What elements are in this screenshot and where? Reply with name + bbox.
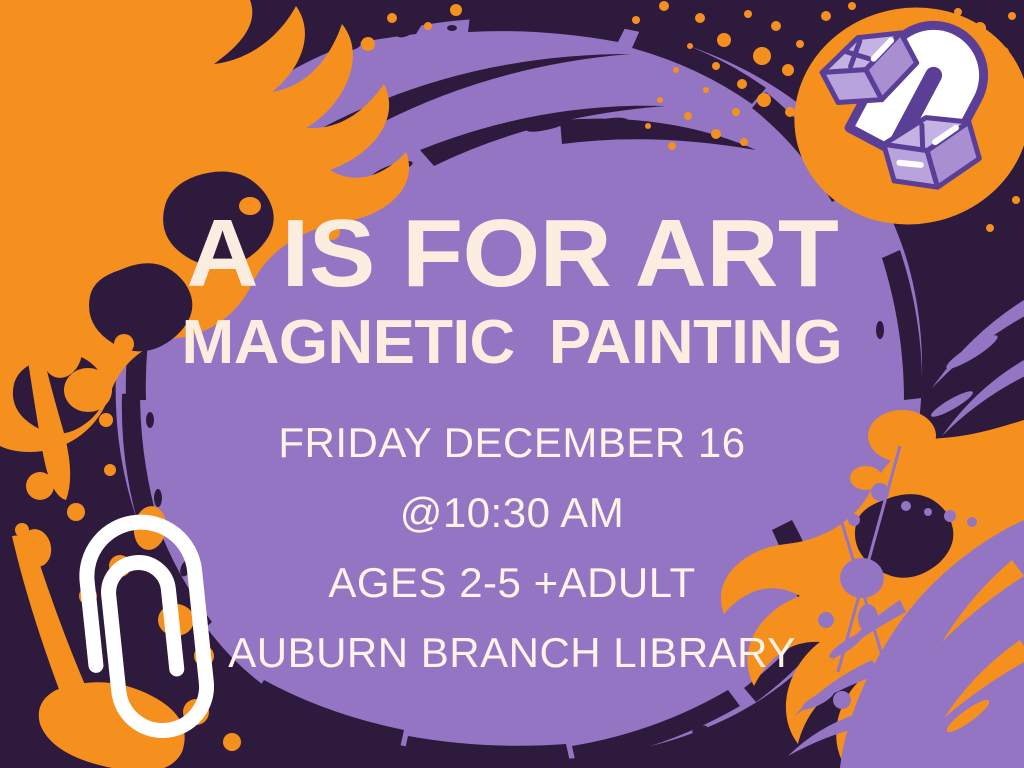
event-location: AUBURN BRANCH LIBRARY (228, 632, 796, 674)
poster-text: A IS FOR ART MAGNETIC PAINTING FRIDAY DE… (0, 0, 1024, 768)
event-ages: AGES 2-5 +ADULT (328, 562, 695, 604)
page-subtitle: MAGNETIC PAINTING (182, 312, 843, 374)
page-title: A IS FOR ART (186, 206, 838, 302)
event-time: @10:30 AM (400, 492, 625, 534)
event-date: FRIDAY DECEMBER 16 (278, 422, 745, 464)
poster: A IS FOR ART MAGNETIC PAINTING FRIDAY DE… (0, 0, 1024, 768)
